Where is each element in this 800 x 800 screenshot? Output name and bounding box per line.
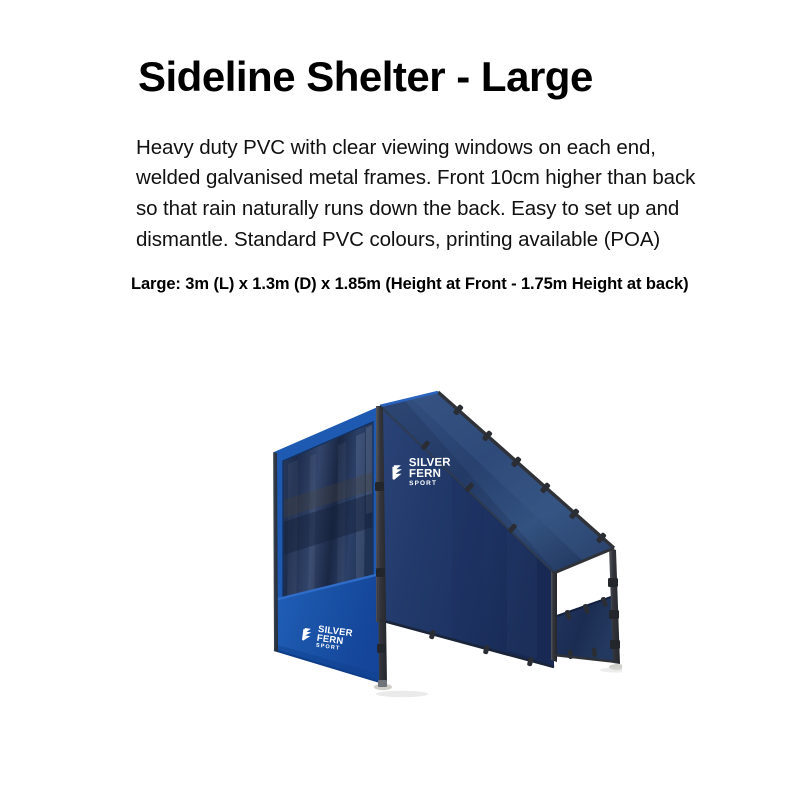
shelter-illustration	[252, 362, 622, 742]
page-title: Sideline Shelter - Large	[138, 55, 758, 99]
rear-right-post	[551, 570, 557, 662]
product-dimensions: Large: 3m (L) x 1.3m (D) x 1.85m (Height…	[131, 275, 771, 294]
product-description: Heavy duty PVC with clear viewing window…	[136, 133, 712, 256]
product-image: SILVER FERN SPORT SILVER FERN SPORT	[252, 362, 622, 742]
product-page: Sideline Shelter - Large Heavy duty PVC …	[0, 0, 800, 800]
